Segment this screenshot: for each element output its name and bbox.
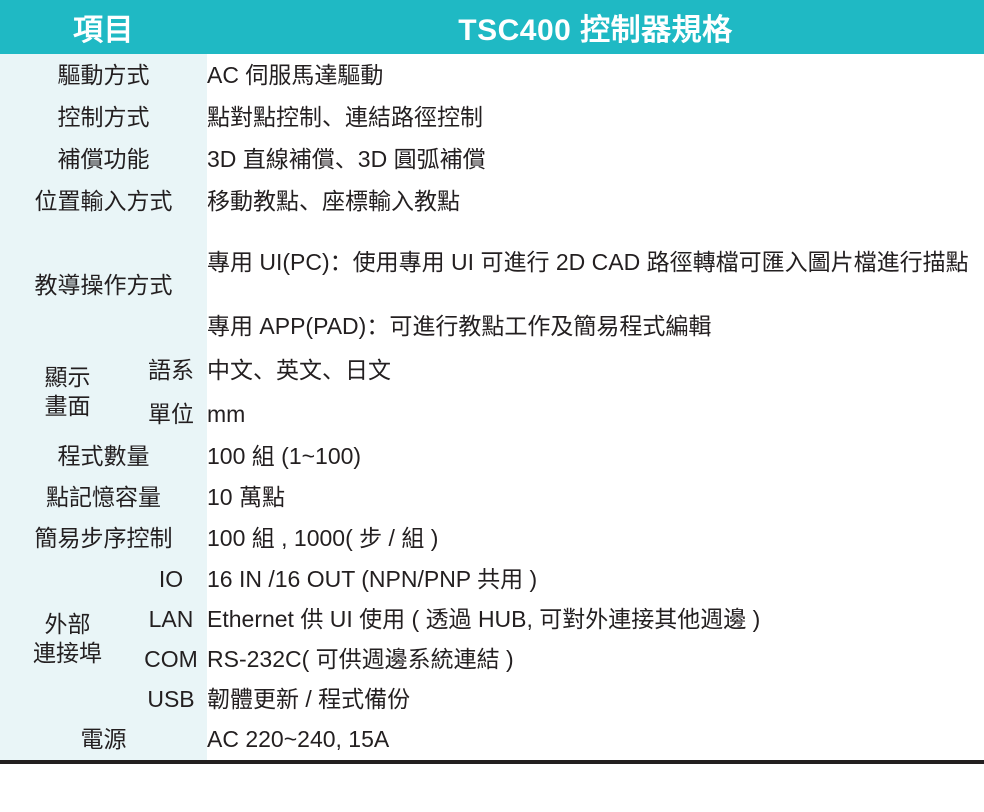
- row-value-compensation: 3D 直線補償、3D 圓弧補償: [207, 138, 984, 180]
- row-value-usb: 韌體更新 / 程式備份: [207, 679, 984, 719]
- row-label-external-ports: 外部 連接埠: [0, 559, 135, 719]
- table-row: COM RS-232C( 可供週邊系統連結 ): [0, 639, 984, 679]
- sub-label-usb: USB: [135, 679, 207, 719]
- sub-label-com: COM: [135, 639, 207, 679]
- table-header-row: 項目 TSC400 控制器規格: [0, 0, 984, 54]
- table-row: USB 韌體更新 / 程式備份: [0, 679, 984, 719]
- row-value-io: 16 IN /16 OUT (NPN/PNP 共用 ): [207, 559, 984, 599]
- sub-label-unit: 單位: [135, 392, 207, 436]
- row-label-point-memory: 點記憶容量: [0, 477, 207, 518]
- sub-label-language: 語系: [135, 348, 207, 392]
- table-row: 補償功能 3D 直線補償、3D 圓弧補償: [0, 138, 984, 180]
- display-label-line2: 畫面: [0, 392, 135, 421]
- row-value-language: 中文、英文、日文: [207, 348, 984, 392]
- row-label-compensation: 補償功能: [0, 138, 207, 180]
- table-row: 教導操作方式 專用 UI(PC)：使用專用 UI 可進行 2D CAD 路徑轉檔…: [0, 222, 984, 304]
- header-title: TSC400 控制器規格: [207, 0, 984, 54]
- table-row: 點記憶容量 10 萬點: [0, 477, 984, 518]
- row-value-lan: Ethernet 供 UI 使用 ( 透過 HUB, 可對外連接其他週邊 ): [207, 599, 984, 639]
- row-value-position-input: 移動教點、座標輸入教點: [207, 180, 984, 222]
- row-label-display-screen: 顯示 畫面: [0, 348, 135, 436]
- sub-label-lan: LAN: [135, 599, 207, 639]
- row-label-position-input: 位置輸入方式: [0, 180, 207, 222]
- row-value-program-count: 100 組 (1~100): [207, 436, 984, 477]
- row-value-teaching-app-pad: 專用 APP(PAD)：可進行教點工作及簡易程式編輯: [207, 304, 984, 348]
- display-label-line1: 顯示: [0, 363, 135, 392]
- row-label-drive-method: 驅動方式: [0, 54, 207, 96]
- table-row: 控制方式 點對點控制、連結路徑控制: [0, 96, 984, 138]
- row-value-drive-method: AC 伺服馬達驅動: [207, 54, 984, 96]
- row-value-control-method: 點對點控制、連結路徑控制: [207, 96, 984, 138]
- row-label-teaching-operation: 教導操作方式: [0, 222, 207, 348]
- row-value-com: RS-232C( 可供週邊系統連結 ): [207, 639, 984, 679]
- table-row: LAN Ethernet 供 UI 使用 ( 透過 HUB, 可對外連接其他週邊…: [0, 599, 984, 639]
- table-row: 外部 連接埠 IO 16 IN /16 OUT (NPN/PNP 共用 ): [0, 559, 984, 599]
- row-label-simple-sequence: 簡易步序控制: [0, 518, 207, 559]
- table-row: 顯示 畫面 語系 中文、英文、日文: [0, 348, 984, 392]
- table-row: 程式數量 100 組 (1~100): [0, 436, 984, 477]
- table-row: 簡易步序控制 100 組 , 1000( 步 / 組 ): [0, 518, 984, 559]
- row-label-power: 電源: [0, 719, 207, 762]
- row-label-control-method: 控制方式: [0, 96, 207, 138]
- row-value-power: AC 220~240, 15A: [207, 719, 984, 762]
- table-row: 驅動方式 AC 伺服馬達驅動: [0, 54, 984, 96]
- table-row: 單位 mm: [0, 392, 984, 436]
- ports-label-line2: 連接埠: [0, 639, 135, 668]
- row-value-unit: mm: [207, 392, 984, 436]
- row-value-simple-sequence: 100 組 , 1000( 步 / 組 ): [207, 518, 984, 559]
- table-row: 位置輸入方式 移動教點、座標輸入教點: [0, 180, 984, 222]
- ports-label-line1: 外部: [0, 610, 135, 639]
- row-label-program-count: 程式數量: [0, 436, 207, 477]
- row-value-teaching-ui-pc: 專用 UI(PC)：使用專用 UI 可進行 2D CAD 路徑轉檔可匯入圖片檔進…: [207, 222, 984, 304]
- row-value-point-memory: 10 萬點: [207, 477, 984, 518]
- spec-table: 項目 TSC400 控制器規格 驅動方式 AC 伺服馬達驅動 控制方式 點對點控…: [0, 0, 984, 764]
- header-item-label: 項目: [0, 0, 207, 54]
- table-row: 電源 AC 220~240, 15A: [0, 719, 984, 762]
- sub-label-io: IO: [135, 559, 207, 599]
